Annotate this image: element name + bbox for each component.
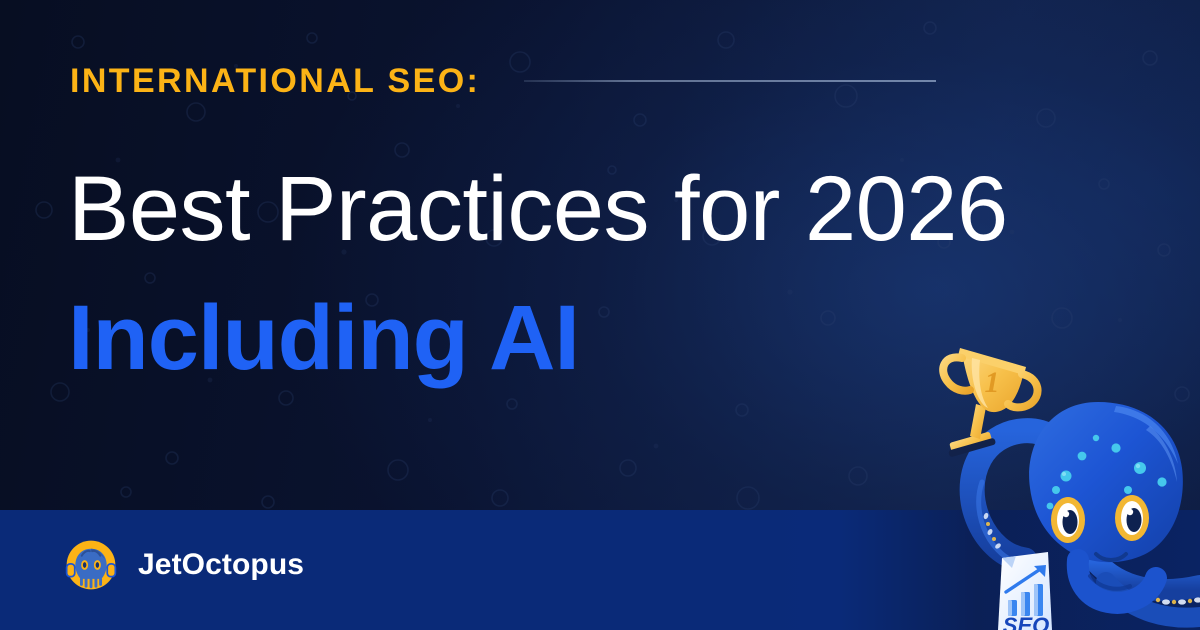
social-share-banner: INTERNATIONAL SEO: Best Practices for 20… <box>0 0 1200 630</box>
trophy-rank-number: 1 <box>985 366 1000 399</box>
eyebrow-label: INTERNATIONAL SEO: <box>70 64 480 98</box>
seo-report-paper: SEO <box>998 552 1052 630</box>
brand-lockup[interactable]: JetOctopus <box>62 536 304 594</box>
jetoctopus-logo-icon <box>62 536 120 594</box>
eyebrow-divider-rule <box>524 80 936 82</box>
brand-name-label: JetOctopus <box>138 550 304 580</box>
seo-paper-label: SEO <box>1003 613 1049 630</box>
octopus-mascot-illustration: 1 <box>900 330 1200 630</box>
headline-primary: Best Practices for 2026 <box>68 160 1148 259</box>
eyebrow-row: INTERNATIONAL SEO: <box>70 64 1070 98</box>
